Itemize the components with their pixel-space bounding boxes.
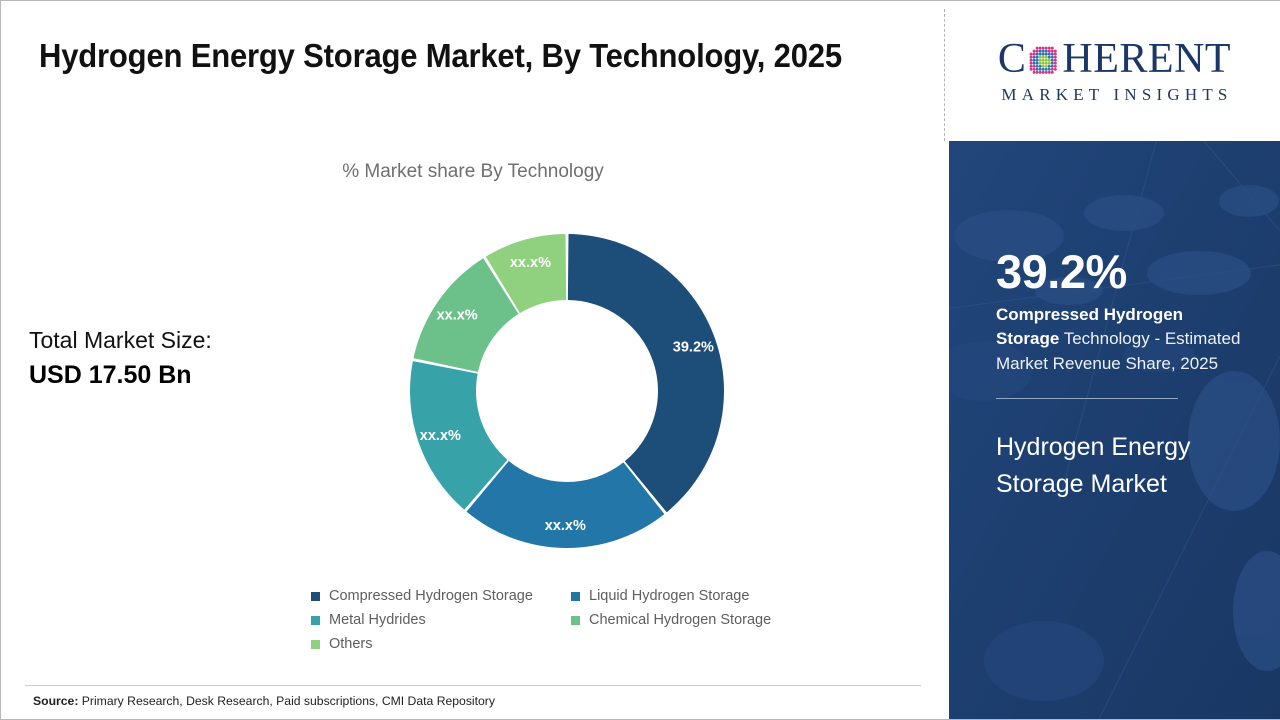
total-market-size-label: Total Market Size: — [29, 325, 319, 356]
legend-swatch — [571, 616, 580, 625]
legend-swatch — [311, 616, 320, 625]
chart-region: Hydrogen Energy Storage Market, By Techn… — [1, 1, 945, 719]
panel-content: 39.2% Compressed Hydrogen Storage Techno… — [996, 247, 1246, 503]
legend-item[interactable]: Metal Hydrides — [311, 612, 561, 628]
logo-letters-herent: HERENT — [1062, 38, 1231, 80]
donut-slice-label: xx.x% — [510, 255, 551, 271]
legend-label: Metal Hydrides — [329, 612, 426, 628]
chart-subtitle: % Market share By Technology — [1, 161, 945, 183]
donut-slice — [568, 234, 724, 512]
logo-letter-c: C — [998, 38, 1027, 80]
donut-chart-svg: 39.2%xx.x%xx.x%xx.x%xx.x% — [409, 233, 725, 549]
logo-header: C HERENT MARKET INSIGHTS — [949, 1, 1280, 141]
donut-slice — [467, 461, 665, 548]
panel-rule — [996, 398, 1178, 399]
market-infographic-card: Hydrogen Energy Storage Market, By Techn… — [0, 0, 1280, 720]
donut-chart: 39.2%xx.x%xx.x%xx.x%xx.x% — [409, 233, 725, 549]
panel-market-name: Hydrogen Energy Storage Market — [996, 429, 1246, 503]
source-text: Primary Research, Desk Research, Paid su… — [78, 694, 495, 708]
legend-label: Others — [329, 636, 373, 652]
highlight-panel: 39.2% Compressed Hydrogen Storage Techno… — [949, 141, 1280, 719]
legend-swatch — [311, 592, 320, 601]
stat-value: 39.2% — [996, 247, 1246, 296]
total-market-size-block: Total Market Size: USD 17.50 Bn — [29, 325, 319, 393]
brand-panel-column: C HERENT MARKET INSIGHTS — [949, 1, 1280, 719]
total-market-size-value: USD 17.50 Bn — [29, 358, 319, 393]
chart-legend: Compressed Hydrogen StorageLiquid Hydrog… — [311, 588, 831, 652]
legend-label: Chemical Hydrogen Storage — [589, 612, 771, 628]
panel-divider — [944, 9, 945, 141]
legend-label: Compressed Hydrogen Storage — [329, 588, 533, 604]
legend-item[interactable]: Liquid Hydrogen Storage — [571, 588, 821, 604]
donut-slice-label: 39.2% — [673, 339, 714, 355]
logo-tagline: MARKET INSIGHTS — [996, 85, 1232, 105]
legend-swatch — [571, 592, 580, 601]
legend-item[interactable]: Compressed Hydrogen Storage — [311, 588, 561, 604]
source-label: Source: — [33, 694, 78, 708]
legend-item[interactable]: Chemical Hydrogen Storage — [571, 612, 821, 628]
legend-label: Liquid Hydrogen Storage — [589, 588, 749, 604]
legend-item[interactable]: Others — [311, 636, 561, 652]
source-divider — [25, 685, 921, 686]
logo-wordmark: C HERENT — [998, 38, 1231, 80]
legend-swatch — [311, 640, 320, 649]
source-note: Source: Primary Research, Desk Research,… — [33, 694, 495, 708]
donut-slice-label: xx.x% — [420, 428, 461, 444]
page-title: Hydrogen Energy Storage Market, By Techn… — [39, 32, 866, 80]
dotted-globe-icon — [1027, 44, 1061, 78]
donut-slices — [410, 234, 724, 548]
donut-slice-label: xx.x% — [545, 518, 586, 534]
donut-slice-label: xx.x% — [437, 307, 478, 323]
stat-description: Compressed Hydrogen Storage Technology -… — [996, 303, 1246, 375]
